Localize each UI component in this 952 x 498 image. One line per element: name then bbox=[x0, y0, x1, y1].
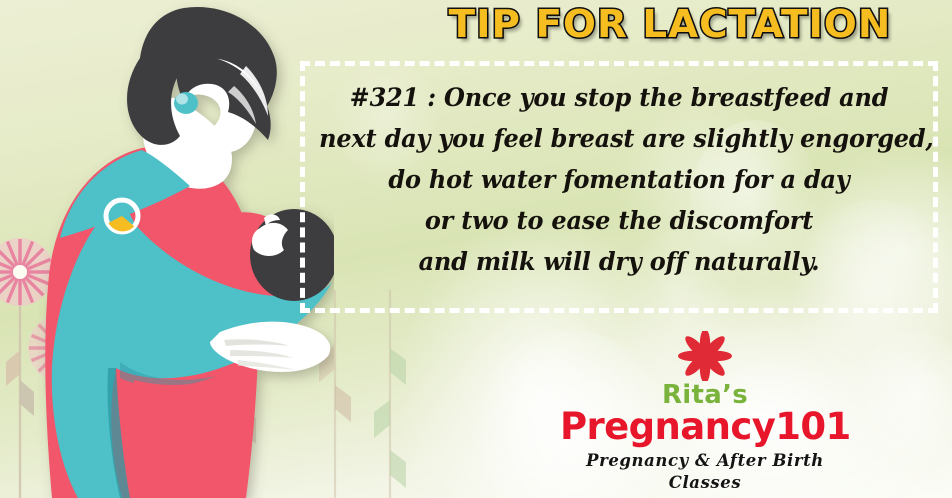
tip-line-2: next day you feel breast are slightly en… bbox=[319, 119, 919, 160]
tip-line-1: #321 : Once you stop the breastfeed and bbox=[319, 78, 919, 119]
tip-line-4: or two to ease the discomfort bbox=[319, 201, 919, 242]
tip-line-5: and milk will dry off naturally. bbox=[319, 242, 919, 283]
tip-line-3: do hot water fomentation for a day bbox=[319, 160, 919, 201]
lactation-tip-poster: TIP FOR LACTATION #321 : Once you stop t… bbox=[0, 0, 952, 498]
flower-icon bbox=[560, 332, 850, 380]
tip-text-block: #321 : Once you stop the breastfeed and … bbox=[319, 78, 919, 283]
brand-logo: Rita’s Pregnancy101 Pregnancy & After Bi… bbox=[560, 332, 850, 492]
background-stems-right bbox=[300, 290, 600, 498]
mother-and-baby-illustration bbox=[0, 0, 334, 498]
bokeh-light-6 bbox=[855, 330, 952, 470]
logo-tagline: Pregnancy & After Birth Classes bbox=[564, 450, 845, 494]
logo-brand-name: Pregnancy101 bbox=[560, 407, 850, 447]
page-title: TIP FOR LACTATION bbox=[466, 0, 874, 50]
